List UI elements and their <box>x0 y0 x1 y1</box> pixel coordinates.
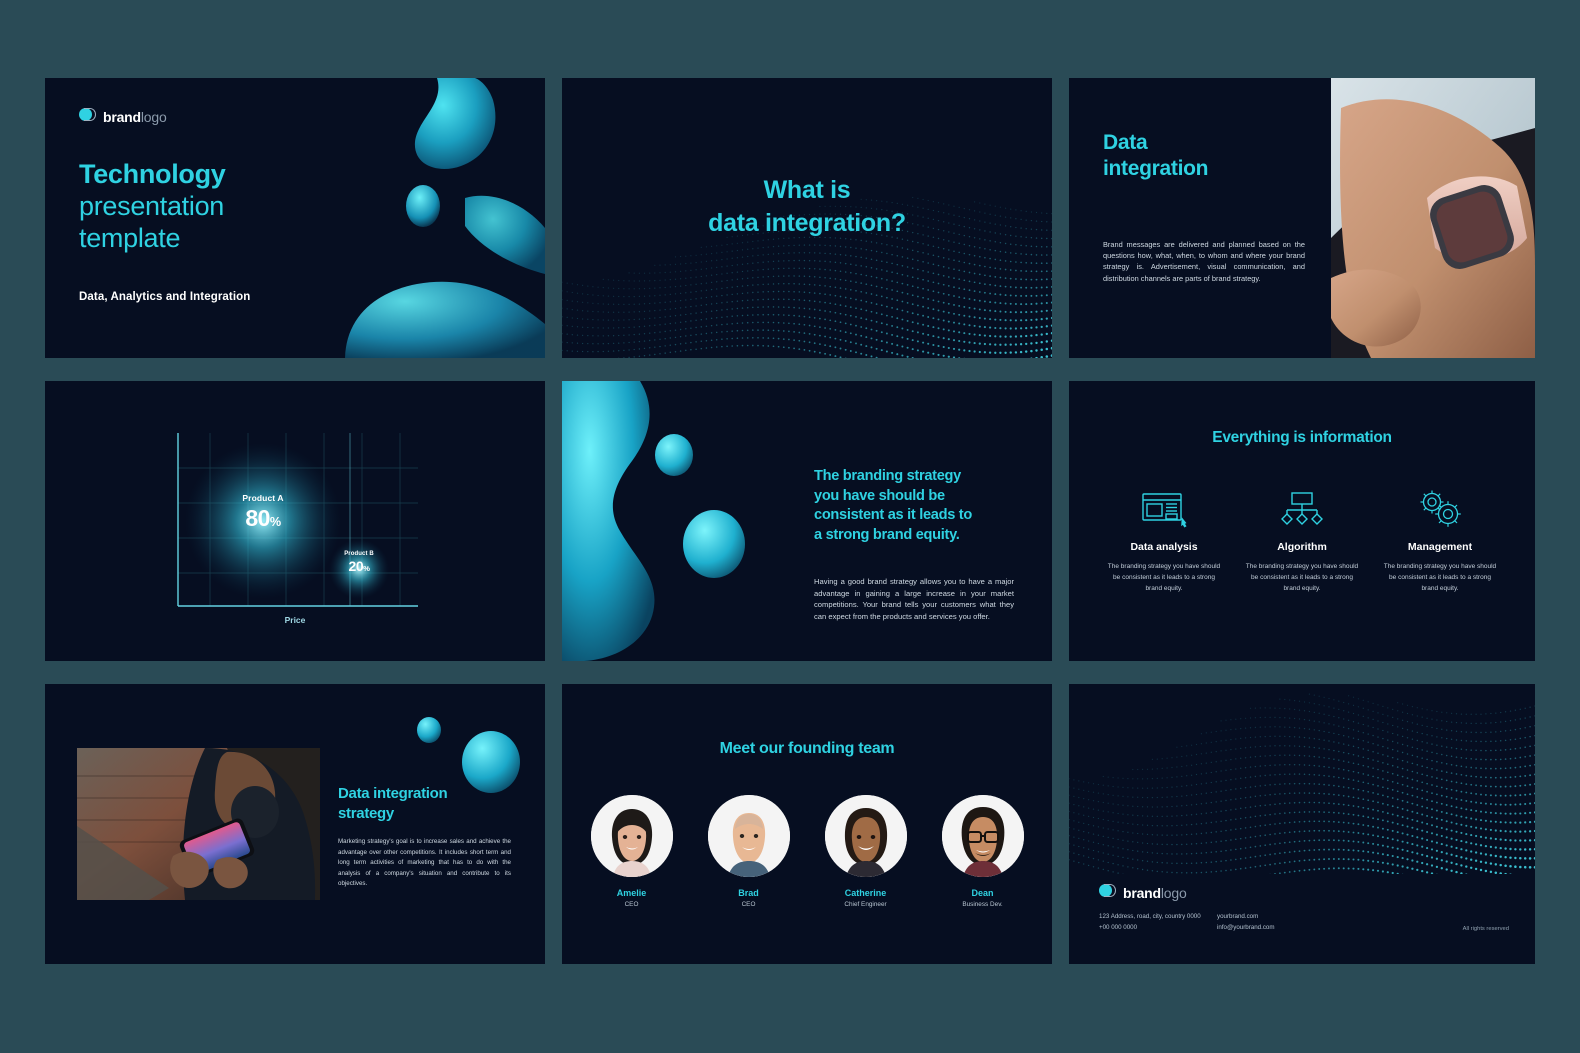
chart-xlabel: Price <box>45 615 545 625</box>
gears-management-icon <box>1381 487 1499 529</box>
column-desc: The branding strategy you have should be… <box>1243 562 1361 594</box>
team-member[interactable]: Amelie CEO <box>591 795 673 908</box>
column-data-analysis[interactable]: Data analysis The branding strategy you … <box>1095 487 1233 594</box>
member-role: CEO <box>708 901 790 908</box>
closing-footer: brandlogo 123 Address, road, city, count… <box>1099 884 1509 934</box>
column-desc: The branding strategy you have should be… <box>1105 562 1223 594</box>
dot-mesh-wave <box>1069 684 1535 874</box>
title-line-1: Technology <box>79 159 511 191</box>
footer-phone: +00 000 0000 <box>1099 923 1217 934</box>
title-line-2: presentation <box>79 191 511 223</box>
product-a-label: Product A <box>213 493 313 503</box>
slide-data-integration[interactable]: Data integration Brand messages are deli… <box>1069 78 1535 358</box>
brand-circle-icon <box>79 108 96 125</box>
slide-deck: brandlogo Technology presentation templa… <box>0 0 1580 1053</box>
column-title: Management <box>1381 541 1499 553</box>
team-members: Amelie CEO Brad CEO <box>592 795 1022 908</box>
column-management[interactable]: Management The branding strategy you hav… <box>1371 487 1509 594</box>
member-role: Business Dev. <box>942 901 1024 908</box>
person-with-phone-photo <box>77 748 320 900</box>
chart-point-product-b: Product B 20% <box>315 551 403 574</box>
brand-name-light: logo <box>1161 885 1187 901</box>
avatar <box>708 795 790 877</box>
strategy-title: Data integration strategy <box>338 784 511 823</box>
branding-line-4: a strong brand equity. <box>814 526 1014 546</box>
slide-title[interactable]: brandlogo Technology presentation templa… <box>45 78 545 358</box>
product-a-value: 80 <box>245 505 270 531</box>
branding-line-3: consistent as it leads to <box>814 506 1014 526</box>
footer-email[interactable]: info@yourbrand.com <box>1217 923 1463 934</box>
footer-links: yourbrand.com info@yourbrand.com <box>1217 912 1463 934</box>
product-a-unit: % <box>270 515 281 529</box>
member-name: Brad <box>708 888 790 898</box>
di-title-line-2: integration <box>1103 156 1305 182</box>
avatar <box>591 795 673 877</box>
footer-contact: 123 Address, road, city, country 0000 +0… <box>1099 912 1217 934</box>
slide-chart[interactable]: Efficiency Price Product A 80% Product B… <box>45 381 545 661</box>
avatar <box>825 795 907 877</box>
page-title: Technology presentation template <box>79 159 511 255</box>
brand-logo[interactable]: brandlogo <box>1099 884 1509 901</box>
branding-headline: The branding strategy you have should be… <box>814 467 1014 546</box>
member-role: Chief Engineer <box>825 901 907 908</box>
data-integration-text: Data integration Brand messages are deli… <box>1069 78 1331 358</box>
strategy-line-2: strategy <box>338 804 511 824</box>
brand-name-light: logo <box>141 109 167 125</box>
strategy-line-1: Data integration <box>338 784 511 804</box>
strategy-text: Data integration strategy Marketing stra… <box>320 784 545 890</box>
team-member[interactable]: Catherine Chief Engineer <box>825 795 907 908</box>
column-title: Algorithm <box>1243 541 1361 553</box>
product-b-unit: % <box>363 564 369 573</box>
question-line-2: data integration? <box>708 207 906 240</box>
brand-circle-icon <box>1099 884 1116 901</box>
slide-branding-strategy[interactable]: The branding strategy you have should be… <box>562 381 1052 661</box>
information-columns: Data analysis The branding strategy you … <box>1095 487 1509 594</box>
slide-closing[interactable]: brandlogo 123 Address, road, city, count… <box>1069 684 1535 964</box>
team-member[interactable]: Brad CEO <box>708 795 790 908</box>
slide-team[interactable]: Meet our founding team Amelie <box>562 684 1052 964</box>
di-title-line-1: Data <box>1103 130 1305 156</box>
data-integration-body: Brand messages are delivered and planned… <box>1103 239 1305 285</box>
slide-strategy[interactable]: Data integration strategy Marketing stra… <box>45 684 545 964</box>
team-title: Meet our founding team <box>592 740 1022 759</box>
brand-name-bold: brand <box>1123 885 1161 901</box>
slide-information[interactable]: Everything is information Data anal <box>1069 381 1535 661</box>
dashboard-analysis-icon <box>1105 487 1223 529</box>
product-b-label: Product B <box>315 551 403 557</box>
member-name: Dean <box>942 888 1024 898</box>
footer-website[interactable]: yourbrand.com <box>1217 912 1463 923</box>
data-integration-title: Data integration <box>1103 130 1305 183</box>
member-role: CEO <box>591 901 673 908</box>
strategy-body: Marketing strategy's goal is to increase… <box>338 837 511 890</box>
column-title: Data analysis <box>1105 541 1223 553</box>
brand-name-bold: brand <box>103 109 141 125</box>
hierarchy-algorithm-icon <box>1243 487 1361 529</box>
avatar <box>942 795 1024 877</box>
product-b-value: 20 <box>349 558 364 574</box>
branding-text: The branding strategy you have should be… <box>802 381 1052 661</box>
column-desc: The branding strategy you have should be… <box>1381 562 1499 594</box>
question-headline: What is data integration? <box>708 174 906 239</box>
chart-point-product-a: Product A 80% <box>213 493 313 532</box>
branding-body: Having a good brand strategy allows you … <box>814 576 1014 623</box>
branding-line-2: you have should be <box>814 487 1014 507</box>
fluid-blob-art <box>562 381 802 661</box>
footer-rights: All rights reserved <box>1463 924 1509 934</box>
branding-line-1: The branding strategy <box>814 467 1014 487</box>
member-name: Amelie <box>591 888 673 898</box>
brand-logo[interactable]: brandlogo <box>79 108 511 125</box>
information-title: Everything is information <box>1095 429 1509 447</box>
title-subtitle: Data, Analytics and Integration <box>79 291 511 303</box>
slide-question[interactable]: What is data integration? <box>562 78 1052 358</box>
team-member[interactable]: Dean Business Dev. <box>942 795 1024 908</box>
title-line-3: template <box>79 223 511 255</box>
footer-address: 123 Address, road, city, country 0000 <box>1099 912 1217 923</box>
column-algorithm[interactable]: Algorithm The branding strategy you have… <box>1233 487 1371 594</box>
smartwatch-photo <box>1331 78 1535 358</box>
question-line-1: What is <box>708 174 906 207</box>
member-name: Catherine <box>825 888 907 898</box>
